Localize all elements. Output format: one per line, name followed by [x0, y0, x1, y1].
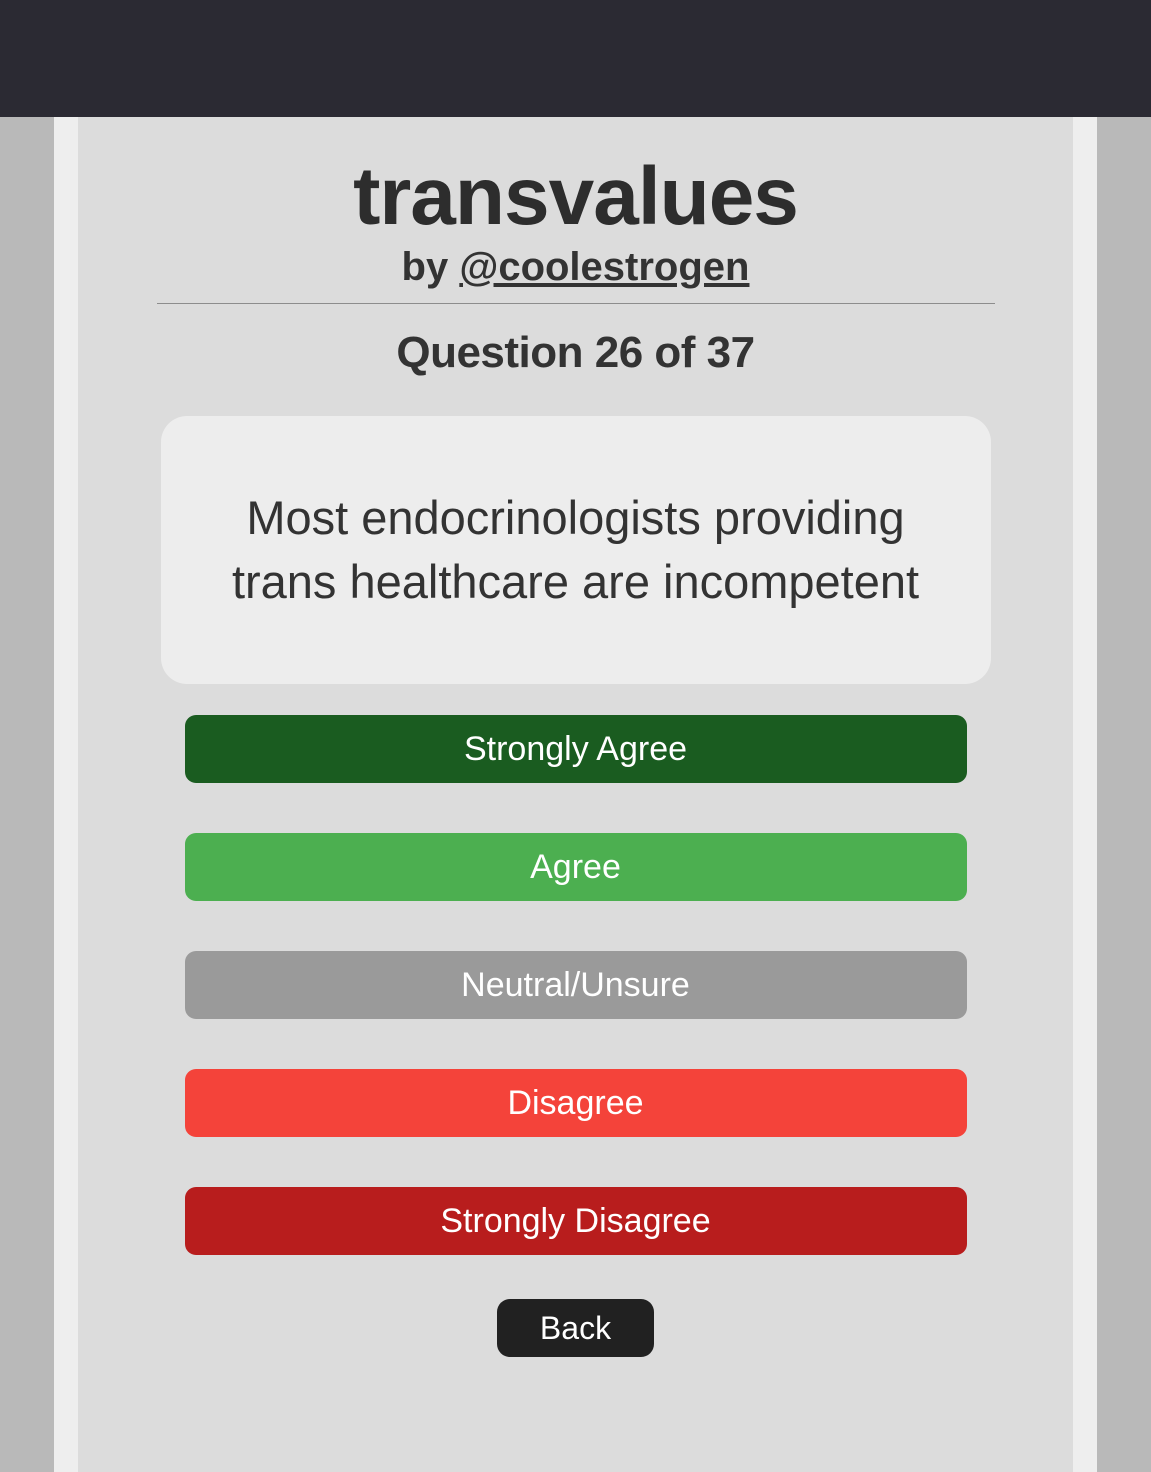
right-gutter: [1073, 117, 1097, 1472]
page-surface: transvalues by @coolestrogen Question 26…: [78, 117, 1073, 1472]
byline: by @coolestrogen: [78, 245, 1073, 289]
navigation-row: Back: [78, 1299, 1073, 1357]
answer-button-strongly-agree[interactable]: Strongly Agree: [185, 715, 967, 783]
byline-prefix: by: [402, 245, 460, 289]
question-card: Most endocrinologists providing trans he…: [161, 416, 991, 684]
back-button[interactable]: Back: [497, 1299, 654, 1357]
header-divider: [157, 303, 995, 304]
page-content: transvalues by @coolestrogen Question 26…: [78, 117, 1073, 1357]
question-text: Most endocrinologists providing trans he…: [195, 486, 957, 614]
page-title: transvalues: [78, 155, 1073, 239]
question-counter: Question 26 of 37: [78, 328, 1073, 378]
author-handle-link[interactable]: @coolestrogen: [459, 245, 749, 289]
answer-button-strongly-disagree[interactable]: Strongly Disagree: [185, 1187, 967, 1255]
browser-top-bar: [0, 0, 1151, 117]
page-viewport: transvalues by @coolestrogen Question 26…: [0, 117, 1151, 1472]
left-gutter: [54, 117, 78, 1472]
answer-button-agree[interactable]: Agree: [185, 833, 967, 901]
answer-button-disagree[interactable]: Disagree: [185, 1069, 967, 1137]
answer-options-list: Strongly Agree Agree Neutral/Unsure Disa…: [185, 715, 967, 1255]
answer-button-neutral-unsure[interactable]: Neutral/Unsure: [185, 951, 967, 1019]
